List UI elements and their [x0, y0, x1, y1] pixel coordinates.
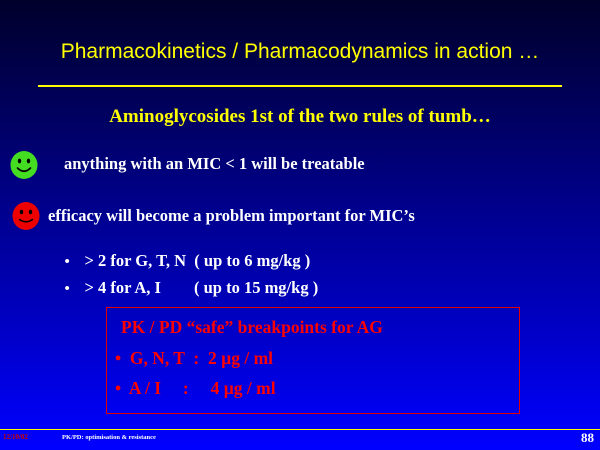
list-item: • G, N, T : 2 µg / ml	[115, 348, 273, 369]
statement-treatable: anything with an MIC < 1 will be treatab…	[64, 154, 365, 174]
footer-date: 12/10/02	[3, 433, 28, 441]
title-divider	[38, 85, 562, 87]
list-item-label: > 4 for A, I ( up to 15 mg/kg )	[85, 278, 319, 297]
slide-canvas: Pharmacokinetics / Pharmacodynamics in a…	[0, 0, 600, 450]
footer-divider	[0, 429, 600, 430]
bullet-marker: •	[65, 281, 85, 298]
page-title: Pharmacokinetics / Pharmacodynamics in a…	[0, 40, 600, 64]
statement-efficacy: efficacy will become a problem important…	[48, 206, 415, 226]
list-item: • A / I : 4 µg / ml	[115, 378, 276, 399]
footer-subject: PK/PD: optimisation & resistance	[62, 434, 156, 441]
footer-page-number: 88	[581, 430, 594, 446]
slide-subtitle: Aminoglycosides 1st of the two rules of …	[0, 106, 600, 128]
breakpoints-title: PK / PD “safe” breakpoints for AG	[121, 317, 383, 338]
smiley-happy-green-icon	[9, 150, 39, 180]
smiley-red-icon	[11, 201, 41, 231]
breakpoints-callout-box: PK / PD “safe” breakpoints for AG • G, N…	[106, 307, 520, 414]
